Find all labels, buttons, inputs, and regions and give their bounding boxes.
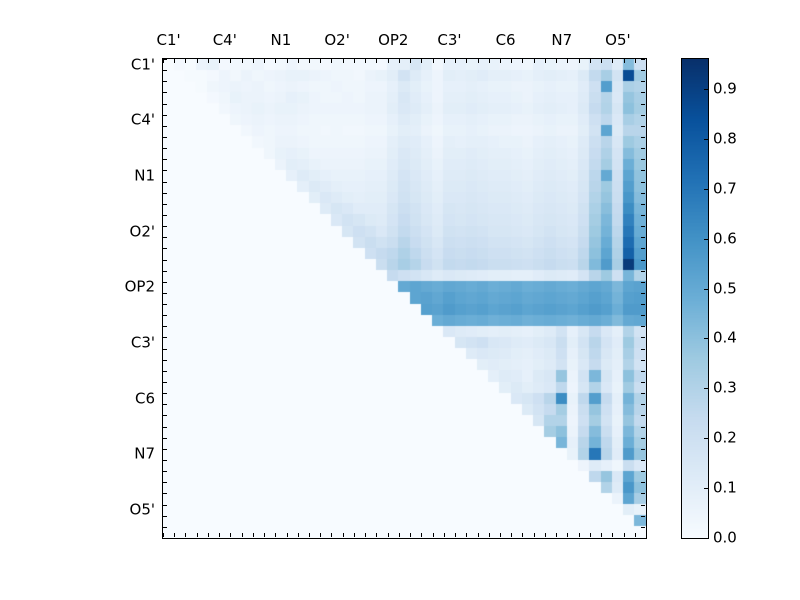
- y-tick-label: C3': [155, 336, 179, 351]
- axis-tick: [601, 533, 602, 537]
- axis-tick: [641, 137, 645, 138]
- axis-tick: [309, 59, 310, 63]
- axis-tick: [410, 59, 411, 63]
- axis-tick: [641, 449, 645, 450]
- axis-tick: [500, 59, 501, 63]
- axis-tick: [185, 59, 186, 63]
- colorbar-tick: [704, 89, 708, 90]
- x-tick-label: C3': [437, 33, 461, 48]
- axis-tick: [641, 427, 645, 428]
- colorbar-tick: [704, 239, 708, 240]
- y-tick-label: C4': [155, 113, 179, 128]
- axis-tick: [641, 337, 645, 338]
- axis-tick: [489, 59, 490, 63]
- axis-tick: [298, 533, 299, 537]
- axis-tick: [230, 533, 231, 537]
- axis-tick: [320, 533, 321, 537]
- axis-tick: [641, 237, 645, 238]
- axis-tick: [646, 59, 647, 63]
- axis-tick: [641, 148, 645, 149]
- axis-tick: [253, 59, 254, 63]
- axis-tick: [354, 533, 355, 537]
- colorbar-tick: [704, 139, 708, 140]
- axis-tick: [522, 59, 523, 63]
- axis-tick: [163, 382, 167, 383]
- heatmap-image: [163, 59, 646, 538]
- axis-tick: [298, 59, 299, 63]
- colorbar-tick: [704, 538, 708, 539]
- axis-tick: [444, 59, 445, 63]
- axis-tick: [641, 360, 645, 361]
- axis-tick: [399, 533, 400, 537]
- heatmap-axes[interactable]: [162, 58, 647, 539]
- axis-tick: [163, 471, 167, 472]
- x-tick-label: OP2: [378, 33, 408, 48]
- colorbar-tick-label: 0.0: [713, 531, 737, 546]
- axis-tick: [197, 59, 198, 63]
- axis-tick: [275, 59, 276, 63]
- axis-tick: [641, 538, 645, 539]
- axis-tick: [455, 59, 456, 63]
- x-tick-label: C4': [213, 33, 237, 48]
- axis-tick: [331, 533, 332, 537]
- axis-tick: [163, 271, 167, 272]
- colorbar-tick-label: 0.2: [713, 431, 737, 446]
- axis-tick: [163, 415, 167, 416]
- axis-tick: [635, 59, 636, 63]
- axis-tick: [641, 382, 645, 383]
- axis-tick: [343, 59, 344, 63]
- axis-tick: [185, 533, 186, 537]
- axis-tick: [579, 533, 580, 537]
- axis-tick: [641, 349, 645, 350]
- axis-tick: [601, 59, 602, 63]
- colorbar-tick-label: 0.5: [713, 281, 737, 296]
- y-tick-label: OP2: [155, 280, 185, 295]
- axis-tick: [641, 293, 645, 294]
- axis-tick: [635, 533, 636, 537]
- axis-tick: [163, 104, 167, 105]
- axis-tick: [163, 215, 167, 216]
- x-tick-label: N1: [271, 33, 292, 48]
- colorbar-tick-label: 0.9: [713, 81, 737, 96]
- colorbar-tick-label: 0.4: [713, 331, 737, 346]
- axis-tick: [641, 126, 645, 127]
- axis-tick: [641, 204, 645, 205]
- axis-tick: [242, 59, 243, 63]
- axis-tick: [641, 248, 645, 249]
- figure-canvas: C1'C4'N1O2'OP2C3'C6N7O5' C1'C4'N1O2'OP2C…: [0, 0, 800, 600]
- axis-tick: [641, 170, 645, 171]
- axis-tick: [197, 533, 198, 537]
- axis-tick: [641, 505, 645, 506]
- axis-tick: [163, 148, 167, 149]
- axis-tick: [444, 533, 445, 537]
- axis-tick: [287, 533, 288, 537]
- axis-tick: [641, 282, 645, 283]
- axis-tick: [163, 438, 167, 439]
- axis-tick: [641, 482, 645, 483]
- y-tick-label: O5': [155, 503, 180, 518]
- colorbar-tick-label: 0.6: [713, 231, 737, 246]
- axis-tick: [287, 59, 288, 63]
- axis-tick: [641, 527, 645, 528]
- axis-tick: [641, 115, 645, 116]
- axis-tick: [163, 533, 164, 537]
- axis-tick: [433, 59, 434, 63]
- axis-tick: [590, 59, 591, 63]
- axis-tick: [534, 59, 535, 63]
- axis-tick: [163, 315, 167, 316]
- axis-tick: [641, 260, 645, 261]
- axis-tick: [545, 533, 546, 537]
- axis-tick: [511, 533, 512, 537]
- axis-tick: [331, 59, 332, 63]
- axis-tick: [388, 59, 389, 63]
- axis-tick: [466, 533, 467, 537]
- axis-tick: [354, 59, 355, 63]
- axis-tick: [365, 59, 366, 63]
- x-tick-label: N7: [551, 33, 572, 48]
- axis-tick: [163, 493, 167, 494]
- axis-tick: [242, 533, 243, 537]
- x-tick-label: O5': [605, 33, 630, 48]
- y-tick-label: O2': [155, 224, 180, 239]
- axis-tick: [163, 482, 167, 483]
- axis-tick: [421, 59, 422, 63]
- axis-tick: [376, 59, 377, 63]
- axis-tick: [641, 81, 645, 82]
- axis-tick: [641, 315, 645, 316]
- axis-tick: [163, 81, 167, 82]
- y-tick-label: N1: [155, 168, 176, 183]
- axis-tick: [641, 159, 645, 160]
- colorbar-tick-label: 0.7: [713, 181, 737, 196]
- axis-tick: [641, 104, 645, 105]
- axis-tick: [275, 533, 276, 537]
- colorbar-tick: [704, 289, 708, 290]
- colorbar-tick-label: 0.3: [713, 381, 737, 396]
- axis-tick: [230, 59, 231, 63]
- axis-tick: [410, 533, 411, 537]
- x-tick-label: O2': [324, 33, 349, 48]
- axis-tick: [264, 59, 265, 63]
- axis-tick: [556, 59, 557, 63]
- axis-tick: [163, 204, 167, 205]
- axis-tick: [641, 404, 645, 405]
- axis-tick: [590, 533, 591, 537]
- axis-tick: [511, 59, 512, 63]
- axis-tick: [641, 226, 645, 227]
- axis-tick: [163, 159, 167, 160]
- axis-tick: [343, 533, 344, 537]
- axis-tick: [264, 533, 265, 537]
- axis-tick: [624, 533, 625, 537]
- y-tick-label: C6: [155, 391, 175, 406]
- colorbar-tick: [704, 488, 708, 489]
- axis-tick: [567, 533, 568, 537]
- axis-tick: [624, 59, 625, 63]
- axis-tick: [641, 92, 645, 93]
- colorbar-tick: [704, 338, 708, 339]
- axis-tick: [567, 59, 568, 63]
- axis-tick: [641, 182, 645, 183]
- axis-tick: [522, 533, 523, 537]
- axis-tick: [545, 59, 546, 63]
- axis-tick: [208, 59, 209, 63]
- axis-tick: [163, 260, 167, 261]
- x-tick-label: C1': [157, 33, 181, 48]
- axis-tick: [163, 527, 167, 528]
- colorbar-tick-label: 0.8: [713, 131, 737, 146]
- colorbar-gradient: [682, 59, 708, 538]
- axis-tick: [641, 371, 645, 372]
- axis-tick: [163, 193, 167, 194]
- axis-tick: [534, 533, 535, 537]
- axis-tick: [641, 326, 645, 327]
- axis-tick: [174, 533, 175, 537]
- colorbar-tick-label: 0.1: [713, 481, 737, 496]
- axis-tick: [163, 538, 167, 539]
- y-tick-label: N7: [155, 447, 176, 462]
- axis-tick: [163, 137, 167, 138]
- axis-tick: [641, 193, 645, 194]
- axis-tick: [163, 248, 167, 249]
- axis-tick: [641, 393, 645, 394]
- axis-tick: [219, 533, 220, 537]
- axis-tick: [579, 59, 580, 63]
- axis-tick: [163, 304, 167, 305]
- axis-tick: [163, 326, 167, 327]
- axis-tick: [641, 304, 645, 305]
- axis-tick: [466, 59, 467, 63]
- x-tick-label: C6: [496, 33, 516, 48]
- colorbar-tick: [704, 189, 708, 190]
- axis-tick: [641, 59, 645, 60]
- colorbar[interactable]: [681, 58, 709, 539]
- axis-tick: [612, 533, 613, 537]
- axis-tick: [556, 533, 557, 537]
- axis-tick: [163, 92, 167, 93]
- axis-tick: [365, 533, 366, 537]
- axis-tick: [612, 59, 613, 63]
- axis-tick: [320, 59, 321, 63]
- axis-tick: [641, 215, 645, 216]
- axis-tick: [500, 533, 501, 537]
- colorbar-tick: [704, 388, 708, 389]
- axis-tick: [399, 59, 400, 63]
- axis-tick: [376, 533, 377, 537]
- axis-tick: [641, 271, 645, 272]
- axis-tick: [641, 415, 645, 416]
- axis-tick: [163, 427, 167, 428]
- axis-tick: [641, 70, 645, 71]
- axis-tick: [641, 471, 645, 472]
- axis-tick: [489, 533, 490, 537]
- axis-tick: [641, 438, 645, 439]
- axis-tick: [478, 59, 479, 63]
- axis-tick: [433, 533, 434, 537]
- axis-tick: [388, 533, 389, 537]
- axis-tick: [163, 371, 167, 372]
- axis-tick: [253, 533, 254, 537]
- axis-tick: [641, 516, 645, 517]
- y-tick-label: C1': [155, 57, 179, 72]
- axis-tick: [163, 360, 167, 361]
- axis-tick: [478, 533, 479, 537]
- axis-tick: [641, 460, 645, 461]
- colorbar-tick: [704, 438, 708, 439]
- axis-tick: [309, 533, 310, 537]
- axis-tick: [208, 533, 209, 537]
- axis-tick: [646, 533, 647, 537]
- axis-tick: [641, 493, 645, 494]
- axis-tick: [455, 533, 456, 537]
- axis-tick: [421, 533, 422, 537]
- axis-tick: [219, 59, 220, 63]
